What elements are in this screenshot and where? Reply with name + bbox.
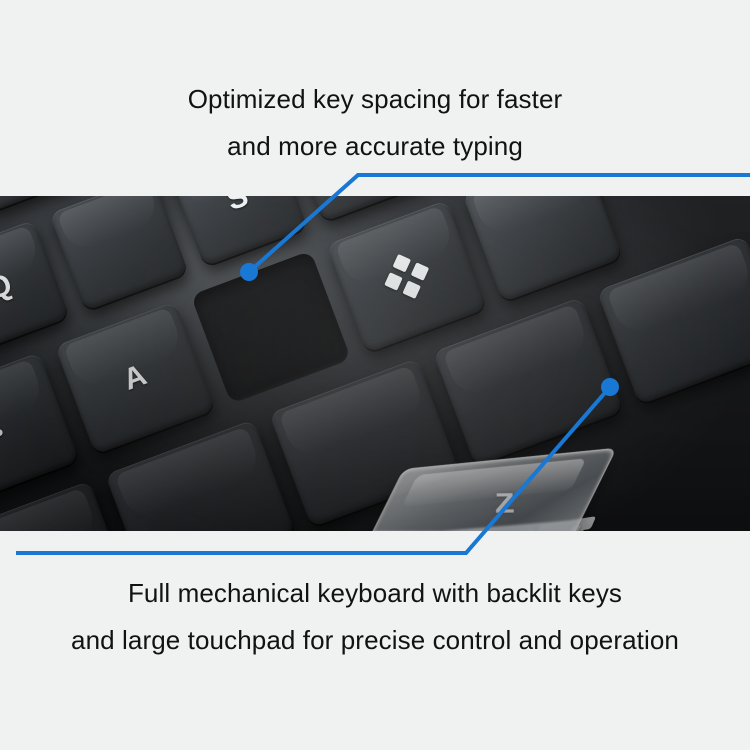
exploded-key-switch: Z [386, 458, 616, 531]
transparent-keycap: Z [357, 448, 617, 531]
keyboard-photo: 1 W D Q S X Caps A [0, 196, 750, 531]
windows-logo-icon [384, 254, 429, 299]
key-s: S [168, 196, 307, 267]
key-a: A [55, 301, 216, 454]
key-blank [597, 235, 750, 405]
keyboard-key-plane: 1 W D Q S X Caps A [0, 196, 750, 531]
key-blank [433, 297, 624, 467]
top-caption-line-1: Optimized key spacing for faster [0, 76, 750, 123]
top-caption-line-2: and more accurate typing [0, 123, 750, 170]
bottom-caption-block: Full mechanical keyboard with backlit ke… [0, 570, 750, 664]
key-blank [462, 196, 623, 302]
key-windows [326, 200, 487, 353]
top-caption-block: Optimized key spacing for faster and mor… [0, 76, 750, 170]
keycap-label: Z [494, 488, 515, 520]
bottom-caption-line-1: Full mechanical keyboard with backlit ke… [0, 570, 750, 617]
key-socket-empty [191, 251, 352, 404]
bottom-caption-line-2: and large touchpad for precise control a… [0, 617, 750, 664]
infographic-canvas: Optimized key spacing for faster and mor… [0, 0, 750, 750]
key-blank [49, 196, 188, 311]
